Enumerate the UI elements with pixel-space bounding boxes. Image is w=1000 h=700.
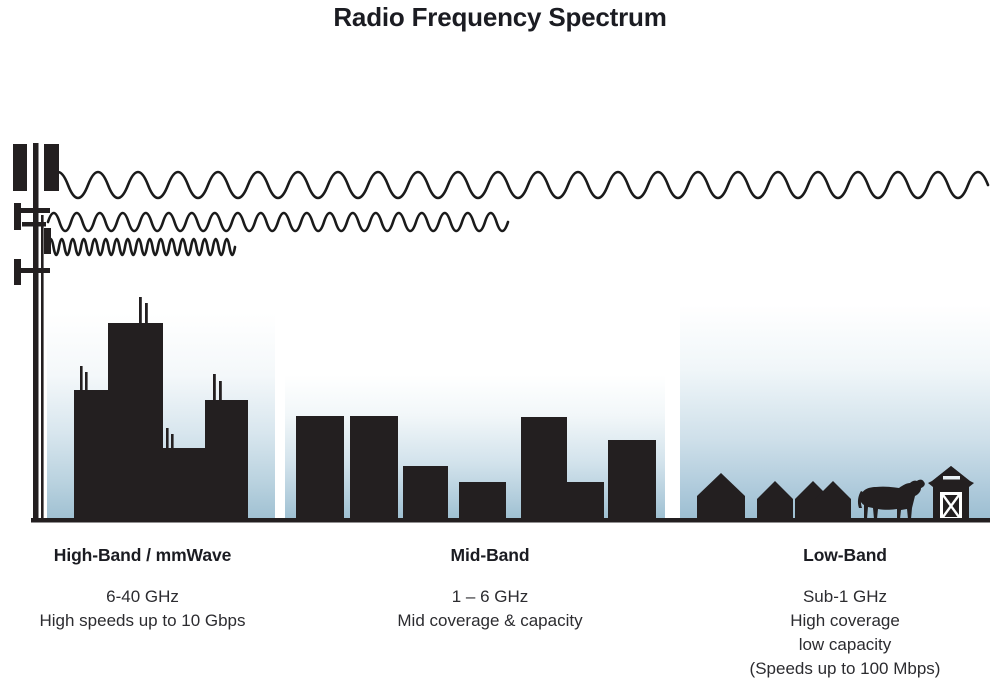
band-column-low-band: Low-Band Sub-1 GHz High coverage low cap… [690,545,1000,682]
building [459,482,506,520]
skyscraper [74,390,108,520]
antenna-panel-mid-right [44,228,51,254]
building [296,416,344,520]
antenna-panel-mid-left [14,203,21,230]
skyscraper [108,323,163,520]
tower-crossbar-lower [18,268,50,273]
band-frequency-low-band: Sub-1 GHz [690,585,1000,609]
band-frequency-high-band: 6-40 GHz [0,585,285,609]
tower-mast-secondary [41,215,44,520]
infographic-canvas: Radio Frequency Spectrum [0,0,1000,700]
tower-crossbar-upper-2 [22,222,46,227]
building-spire [213,374,216,401]
building-spire [145,303,148,324]
band-title-low-band: Low-Band [690,545,1000,566]
band-column-high-band: High-Band / mmWave 6-40 GHz High speeds … [0,545,285,633]
band-frequency-mid-band: 1 – 6 GHz [350,585,630,609]
skyscraper [205,400,248,520]
barn-window-slit [943,476,960,480]
building [521,417,567,520]
building-spire [219,381,222,401]
band-description-mid-band: Mid coverage & capacity [350,609,630,633]
radio-waves [48,172,988,255]
building [567,482,604,520]
building [608,440,656,520]
band-speeds-low-band: (Speeds up to 100 Mbps) [690,657,1000,681]
wave-low-band [48,172,988,198]
building-spire [80,366,83,394]
antenna-panel-top-left [13,144,27,191]
band-coverage-low-band: High coverage [690,609,1000,633]
tower-crossbar-upper [18,208,50,213]
building-spire [166,428,169,451]
band-title-mid-band: Mid-Band [350,545,630,566]
band-title-high-band: High-Band / mmWave [0,545,285,566]
band-capacity-low-band: low capacity [690,633,1000,657]
building-spire [139,297,142,324]
skyscraper [163,448,205,520]
antenna-panel-low-left [14,259,21,285]
band-description-high-band: High speeds up to 10 Gbps [0,609,285,633]
antenna-panel-top-right [44,144,59,191]
band-column-mid-band: Mid-Band 1 – 6 GHz Mid coverage & capaci… [350,545,630,633]
wave-mid-band [48,213,508,231]
building [350,416,398,520]
spectrum-illustration [0,0,1000,545]
tower-mast [33,143,39,520]
wave-high-band [48,239,235,255]
ground-line [31,518,990,523]
building [403,466,448,520]
